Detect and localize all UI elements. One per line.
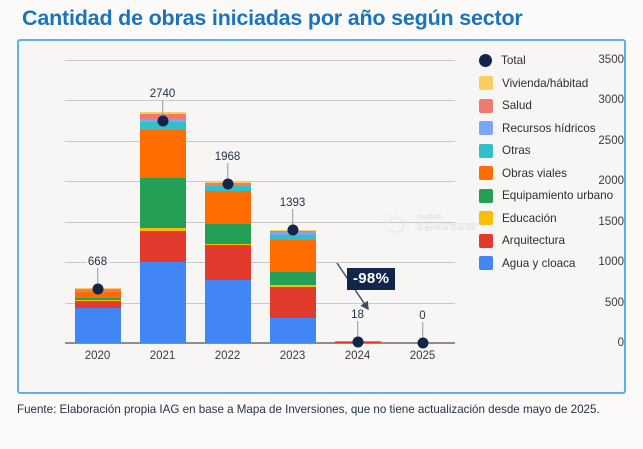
gridline bbox=[65, 262, 455, 263]
legend-item-label: Equipamiento urbano bbox=[502, 189, 613, 202]
legend-item[interactable]: Equipamiento urbano bbox=[479, 188, 613, 203]
bar-2022[interactable] bbox=[205, 60, 251, 343]
bar-segment[interactable] bbox=[140, 262, 186, 343]
bar-segment[interactable] bbox=[205, 191, 251, 223]
legend-item[interactable]: Recursos hídricos bbox=[479, 121, 613, 136]
bar-segment[interactable] bbox=[205, 244, 251, 280]
legend-item[interactable]: Salud bbox=[479, 98, 613, 113]
total-value-label: 18 bbox=[349, 309, 366, 321]
page-title: Cantidad de obras iniciadas por año segú… bbox=[22, 6, 523, 31]
legend-swatch-icon bbox=[479, 99, 493, 113]
total-value-label: 668 bbox=[86, 256, 109, 268]
bar-segment[interactable] bbox=[140, 178, 186, 228]
legend-item[interactable]: Educación bbox=[479, 211, 613, 226]
bar-segment[interactable] bbox=[205, 280, 251, 343]
bar-segment[interactable] bbox=[140, 130, 186, 178]
legend-item-label: Otras bbox=[502, 144, 531, 157]
chart-legend: TotalVivienda/hábitadSaludRecursos hídri… bbox=[479, 53, 613, 271]
bar-segment[interactable] bbox=[140, 228, 186, 231]
total-value-label: 0 bbox=[417, 310, 427, 322]
legend-item-label: Total bbox=[501, 54, 526, 67]
bar-segment[interactable] bbox=[270, 240, 316, 272]
legend-item-label: Educación bbox=[502, 212, 557, 225]
legend-swatch-icon bbox=[479, 211, 493, 225]
legend-item-label: Salud bbox=[502, 99, 532, 112]
bar-segment[interactable] bbox=[270, 285, 316, 287]
total-value-label: 1393 bbox=[278, 197, 308, 209]
legend-swatch-icon bbox=[479, 256, 493, 270]
legend-item[interactable]: Vivienda/hábitad bbox=[479, 76, 613, 91]
annotation-badge: -98% bbox=[347, 268, 395, 290]
bar-segment[interactable] bbox=[270, 272, 316, 285]
legend-item-label: Vivienda/hábitad bbox=[502, 77, 588, 90]
legend-swatch-icon bbox=[479, 76, 493, 90]
legend-swatch-icon bbox=[479, 234, 493, 248]
x-axis-tick-label: 2024 bbox=[345, 350, 371, 362]
gridline bbox=[65, 100, 455, 101]
legend-item-label: Arquitectura bbox=[502, 234, 565, 247]
gridline bbox=[65, 181, 455, 182]
bar-segment[interactable] bbox=[270, 235, 316, 240]
x-axis-tick-label: 2021 bbox=[150, 350, 176, 362]
total-marker-dot[interactable] bbox=[287, 225, 298, 236]
bar-segment[interactable] bbox=[75, 301, 121, 308]
x-axis-tick-label: 2022 bbox=[215, 350, 241, 362]
legend-item-label: Recursos hídricos bbox=[502, 122, 596, 135]
x-axis-tick-label: 2020 bbox=[85, 350, 111, 362]
chart-card: 0500100015002000250030003500668202027402… bbox=[17, 39, 626, 394]
x-axis-tick-label: 2025 bbox=[410, 350, 436, 362]
legend-item-label: Agua y cloaca bbox=[502, 257, 575, 270]
total-marker-dot[interactable] bbox=[92, 283, 103, 294]
legend-swatch-icon bbox=[479, 166, 493, 180]
bar-segment[interactable] bbox=[75, 300, 121, 301]
total-marker-dot[interactable] bbox=[157, 116, 168, 127]
legend-item[interactable]: Otras bbox=[479, 143, 613, 158]
legend-swatch-icon bbox=[479, 54, 492, 67]
bar-segment[interactable] bbox=[270, 287, 316, 318]
bar-2025[interactable] bbox=[400, 60, 446, 343]
legend-swatch-icon bbox=[479, 121, 493, 135]
gridline bbox=[65, 60, 455, 61]
bar-2020[interactable] bbox=[75, 60, 121, 343]
x-axis-tick-label: 2023 bbox=[280, 350, 306, 362]
total-marker-dot[interactable] bbox=[417, 338, 428, 349]
legend-item[interactable]: Arquitectura bbox=[479, 233, 613, 248]
legend-swatch-icon bbox=[479, 144, 493, 158]
source-footnote: Fuente: Elaboración propia IAG en base a… bbox=[17, 402, 617, 418]
bar-segment[interactable] bbox=[75, 308, 121, 343]
bar-segment[interactable] bbox=[140, 231, 186, 262]
legend-swatch-icon bbox=[479, 189, 493, 203]
gridline bbox=[65, 222, 455, 223]
legend-item[interactable]: Agua y cloaca bbox=[479, 256, 613, 271]
total-marker-dot[interactable] bbox=[352, 336, 363, 347]
legend-item[interactable]: Total bbox=[479, 53, 613, 68]
bar-segment[interactable] bbox=[205, 224, 251, 244]
y-axis-tick-label: 0 bbox=[580, 337, 624, 349]
bar-segment[interactable] bbox=[270, 318, 316, 343]
gridline bbox=[65, 303, 455, 304]
legend-item-label: Obras viales bbox=[502, 167, 567, 180]
gridline bbox=[65, 141, 455, 142]
total-value-label: 2740 bbox=[148, 88, 178, 100]
x-axis-line bbox=[65, 342, 455, 344]
legend-item[interactable]: Obras viales bbox=[479, 166, 613, 181]
bar-segment[interactable] bbox=[75, 298, 121, 300]
y-axis-tick-label: 500 bbox=[580, 297, 624, 309]
total-marker-dot[interactable] bbox=[222, 178, 233, 189]
total-value-label: 1968 bbox=[213, 151, 243, 163]
bar-2024[interactable] bbox=[335, 60, 381, 343]
